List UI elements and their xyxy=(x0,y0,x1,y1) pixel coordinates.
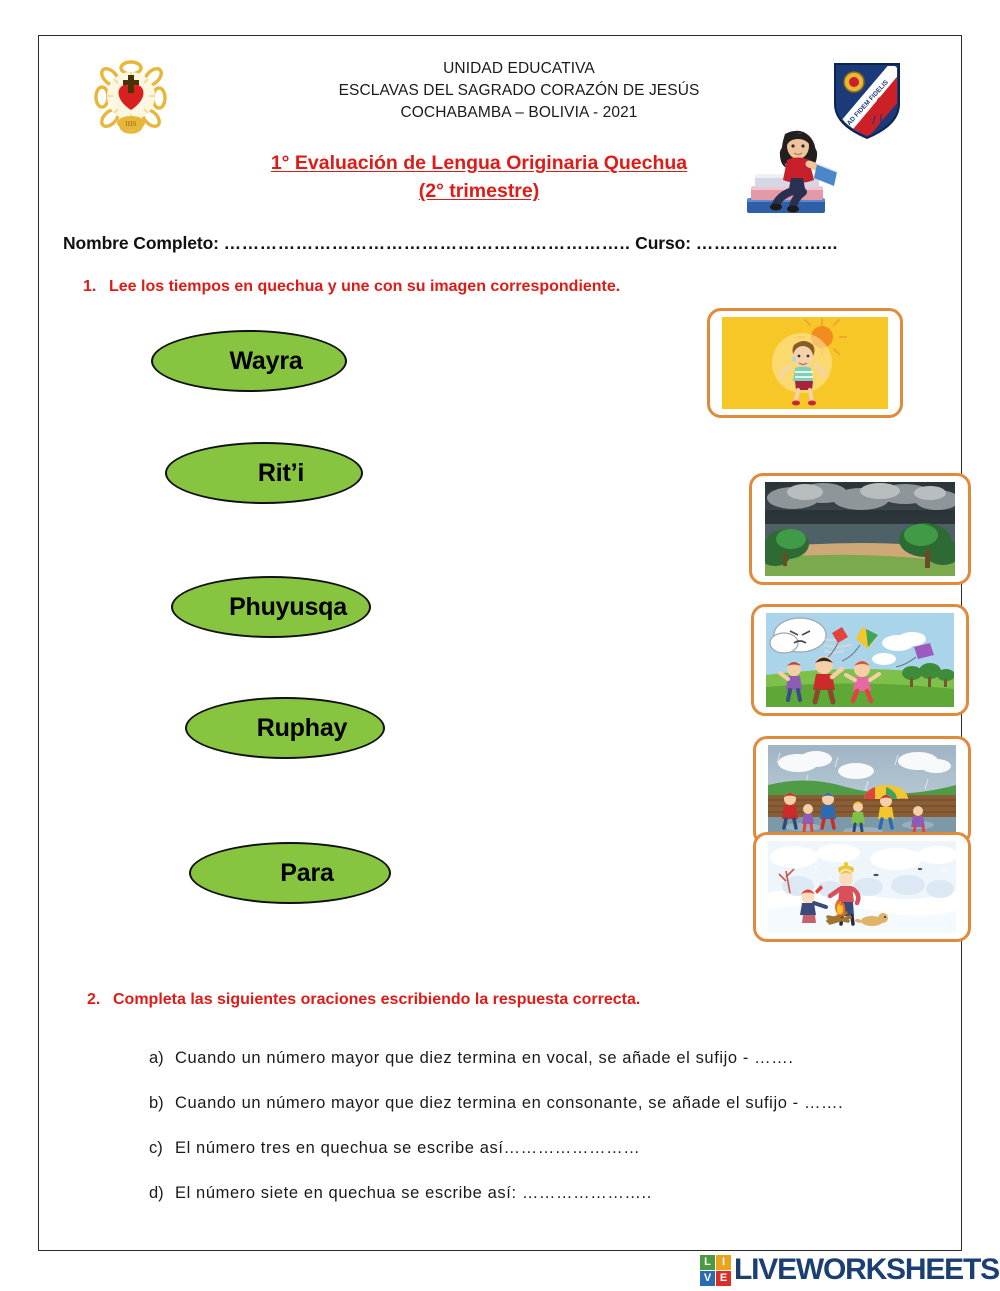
word-oval-ruphay[interactable]: Ruphay xyxy=(185,697,385,759)
sunny-hot-boy-image xyxy=(722,317,888,409)
course-label: Curso: xyxy=(635,233,691,253)
name-label: Nombre Completo: xyxy=(63,233,219,253)
name-input-dots[interactable]: ………………………………………………………….. xyxy=(224,233,631,253)
exercise1-number: 1. xyxy=(83,278,109,296)
exercise2-item-b-text: Cuando un número mayor que diez termina … xyxy=(175,1094,843,1112)
sunny-hot-boy-picture[interactable] xyxy=(707,308,903,418)
rainy-children-picture[interactable] xyxy=(753,736,971,846)
exercise2-item-b[interactable]: b)Cuando un número mayor que diez termin… xyxy=(149,1094,843,1113)
word-oval-phuyusqa[interactable]: Phuyusqa xyxy=(171,576,371,638)
course-input-dots[interactable]: …………………... xyxy=(696,233,838,253)
exercise2-item-d[interactable]: d)El número siete en quechua se escribe … xyxy=(149,1184,652,1203)
exercise2-item-a-letter: a) xyxy=(149,1049,175,1068)
word-oval-wayra[interactable]: Wayra xyxy=(151,330,347,392)
exercise2-item-c[interactable]: c)El número tres en quechua se escribe a… xyxy=(149,1139,640,1158)
lw-tile-i: I xyxy=(716,1255,731,1270)
exercise2-item-d-text: El número siete en quechua se escribe as… xyxy=(175,1184,652,1202)
exercise2-item-c-letter: c) xyxy=(149,1139,175,1158)
word-oval-ruphay-label: Ruphay xyxy=(187,714,383,743)
school-header-line1: UNIDAD EDUCATIVA xyxy=(239,58,799,80)
student-info-line: Nombre Completo: ………………………………………………………….… xyxy=(63,233,943,254)
exercise2-number: 2. xyxy=(87,991,113,1009)
school-header: UNIDAD EDUCATIVA ESCLAVAS DEL SAGRADO CO… xyxy=(239,58,799,124)
word-oval-riti[interactable]: Rit’i xyxy=(165,442,363,504)
word-oval-phuyusqa-label: Phuyusqa xyxy=(173,593,369,622)
windy-kites-image xyxy=(766,613,954,707)
liveworksheets-logo[interactable]: L I V E LIVEWORKSHEETS xyxy=(700,1253,999,1287)
school-header-line2: ESCLAVAS DEL SAGRADO CORAZÓN DE JESÚS xyxy=(239,80,799,102)
page-title: 1° Evaluación de Lengua Originaria Quech… xyxy=(169,149,789,206)
sacred-heart-emblem-icon: IHS xyxy=(89,54,173,138)
lw-tile-v: V xyxy=(700,1271,715,1286)
exercise2-instruction: 2.Completa las siguientes oraciones escr… xyxy=(87,991,640,1009)
cloudy-landscape-image xyxy=(765,482,955,576)
word-oval-riti-label: Rit’i xyxy=(167,459,361,488)
exercise2-item-a-text: Cuando un número mayor que diez termina … xyxy=(175,1049,794,1067)
school-header-line3: COCHABAMBA – BOLIVIA - 2021 xyxy=(239,102,799,124)
exercise2-item-b-letter: b) xyxy=(149,1094,175,1113)
word-oval-para-label: Para xyxy=(191,859,389,888)
rainy-children-image xyxy=(768,745,956,837)
svg-text:IHS: IHS xyxy=(125,120,136,128)
worksheet-frame: IHS UNIDAD EDUCATIVA ESCLAVAS DEL SAGRAD… xyxy=(38,35,962,1251)
page-title-line2: (2° trimestre) xyxy=(419,180,540,202)
snowy-winter-picture[interactable] xyxy=(753,832,971,942)
snowy-winter-image xyxy=(768,841,956,933)
lw-tile-l: L xyxy=(700,1255,715,1270)
cloudy-landscape-picture[interactable] xyxy=(749,473,971,585)
word-oval-wayra-label: Wayra xyxy=(153,347,345,376)
exercise2-item-a[interactable]: a)Cuando un número mayor que diez termin… xyxy=(149,1049,794,1068)
lw-tile-e: E xyxy=(716,1271,731,1286)
exercise2-item-c-text: El número tres en quechua se escribe así… xyxy=(175,1139,640,1157)
exercise2-item-d-letter: d) xyxy=(149,1184,175,1203)
word-oval-para[interactable]: Para xyxy=(189,842,391,904)
exercise1-instruction: 1.Lee los tiempos en quechua y une con s… xyxy=(83,278,620,296)
liveworksheets-wordmark: LIVEWORKSHEETS xyxy=(734,1253,999,1287)
worksheet-page: IHS UNIDAD EDUCATIVA ESCLAVAS DEL SAGRAD… xyxy=(0,0,1000,1291)
windy-kites-picture[interactable] xyxy=(751,604,969,716)
exercise1-instruction-text: Lee los tiempos en quechua y une con su … xyxy=(109,278,620,295)
girl-reading-on-books-icon xyxy=(733,112,841,230)
liveworksheets-tiles: L I V E xyxy=(700,1255,731,1286)
exercise2-instruction-text: Completa las siguientes oraciones escrib… xyxy=(113,991,640,1008)
page-title-line1: 1° Evaluación de Lengua Originaria Quech… xyxy=(271,152,687,174)
